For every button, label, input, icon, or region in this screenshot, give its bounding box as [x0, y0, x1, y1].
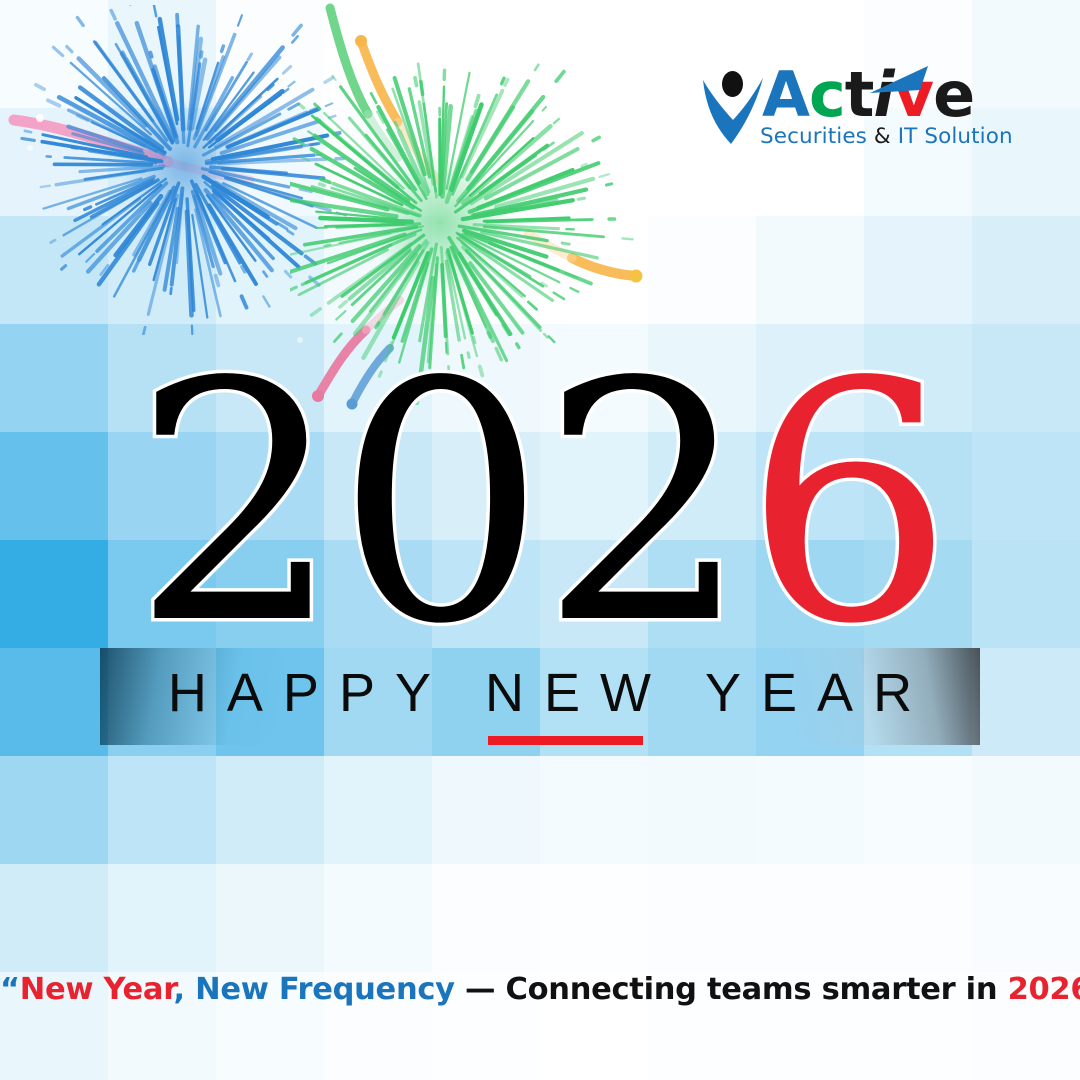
grid-cell — [540, 756, 648, 864]
grid-cell — [0, 864, 108, 972]
grid-cell — [324, 864, 432, 972]
grid-cell — [540, 864, 648, 972]
grid-cell — [864, 864, 972, 972]
tagline-new-frequency: New Frequency — [195, 972, 455, 1007]
logo-letter-a: A — [762, 58, 809, 131]
grid-cell — [756, 864, 864, 972]
grid-cell — [108, 756, 216, 864]
grid-cell — [432, 864, 540, 972]
tagline-open-quote: “ — [0, 972, 20, 1007]
logo-subtitle: Securities & IT Solution — [760, 124, 1013, 149]
logo-letter-c: c — [809, 58, 845, 131]
grid-cell — [216, 756, 324, 864]
year-headline: 2026 — [0, 374, 1080, 654]
happy-new-year-band: HAPPY NEW YEAR — [100, 648, 980, 745]
tagline-year: 2026 — [1008, 972, 1080, 1007]
grid-cell — [756, 756, 864, 864]
grid-cell — [972, 756, 1080, 864]
grid-cell — [648, 864, 756, 972]
tagline-new-year: New Year — [20, 972, 174, 1007]
logo-wordmark: Active — [762, 64, 974, 126]
grid-cell — [972, 648, 1080, 756]
tagline-comma: , — [173, 972, 195, 1007]
logo-swoosh-icon — [870, 66, 932, 96]
year-dark-digits: 202 — [132, 312, 744, 696]
grid-cell — [216, 864, 324, 972]
logo-subtitle-amp: & — [874, 124, 898, 149]
grid-cell — [648, 756, 756, 864]
brand-logo[interactable]: Active Securities & IT Solution — [700, 68, 1010, 158]
logo-subtitle-it: IT — [898, 124, 925, 149]
grid-cell — [864, 756, 972, 864]
grid-cell — [0, 756, 108, 864]
poster-canvas: Active Securities & IT Solution 2026 HAP… — [0, 0, 1080, 1080]
grid-cell — [324, 756, 432, 864]
checkmark-person-icon — [700, 70, 766, 148]
year-red-digit: 6 — [744, 312, 948, 696]
logo-subtitle-securities: Securities — [760, 124, 874, 149]
grid-cell — [108, 864, 216, 972]
tagline-middle: — Connecting teams smarter in — [455, 972, 1008, 1007]
logo-letter-e: e — [933, 58, 974, 131]
grid-cell — [0, 648, 108, 756]
band-underline — [488, 736, 643, 745]
band-text: HAPPY NEW YEAR — [100, 662, 980, 724]
footer-tagline: “New Year, New Frequency — Connecting te… — [0, 972, 1080, 1007]
logo-subtitle-solution: Solution — [924, 124, 1012, 149]
grid-cell — [432, 756, 540, 864]
grid-cell — [972, 864, 1080, 972]
